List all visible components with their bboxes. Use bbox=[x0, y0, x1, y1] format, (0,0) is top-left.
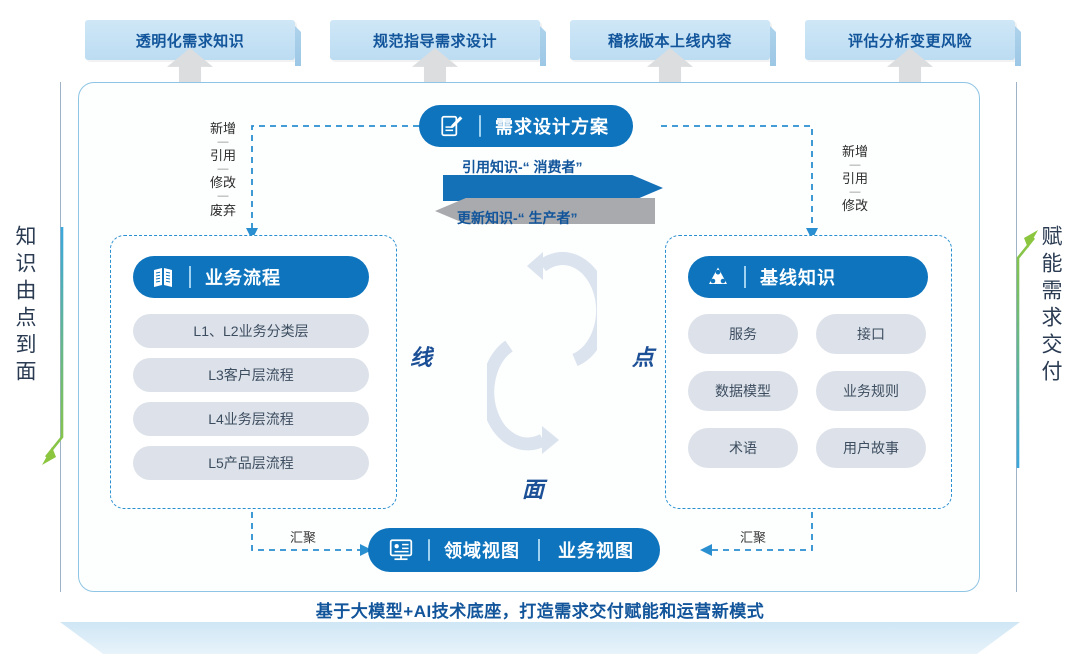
bottom-pill-divider-1 bbox=[428, 539, 430, 561]
caption-suffix: +AI技术底座，打造需求交付赋能和运营新模式 bbox=[403, 602, 764, 621]
process-chip-1-label: L1、L2业务分类层 bbox=[193, 321, 308, 341]
right-action-2: 修改 bbox=[842, 198, 868, 213]
right-action-0: 新增 bbox=[842, 144, 868, 159]
header-pill-label: 需求设计方案 bbox=[495, 113, 609, 139]
stack-separator: — bbox=[200, 137, 246, 149]
cycle-label-line: 线 bbox=[410, 340, 432, 372]
converge-label-right: 汇聚 bbox=[740, 527, 766, 546]
knowledge-chip-3-label: 数据模型 bbox=[715, 381, 771, 401]
knowledge-chip-5[interactable]: 术语 bbox=[688, 428, 798, 468]
caption-prefix: 基于 bbox=[316, 602, 351, 621]
bottom-pill-views[interactable]: 领域视图 业务视图 bbox=[368, 528, 660, 572]
right-direction-arrow-icon bbox=[1012, 225, 1040, 470]
knowledge-chip-4[interactable]: 业务规则 bbox=[816, 371, 926, 411]
converge-label-left: 汇聚 bbox=[290, 527, 316, 546]
header-pill-requirement-design[interactable]: 需求设计方案 bbox=[419, 105, 633, 147]
cycle-arrow-icon bbox=[487, 248, 597, 458]
process-chip-4[interactable]: L5产品层流程 bbox=[133, 446, 369, 480]
diagram-canvas: 透明化需求知识 规范指导需求设计 稽核版本上线内容 评估分析变更风险 bbox=[0, 0, 1080, 664]
knowledge-chip-4-label: 业务规则 bbox=[843, 381, 899, 401]
network-node-icon bbox=[706, 265, 730, 289]
panel-business-process: 业务流程 L1、L2业务分类层 L3客户层流程 L4业务层流程 L5产品层流程 bbox=[110, 235, 397, 509]
panel-right-title: 基线知识 bbox=[760, 264, 836, 290]
producer-arrow-label: 更新知识-“ 生产者” bbox=[457, 208, 578, 228]
left-action-2: 修改 bbox=[210, 175, 236, 190]
knowledge-chip-1-label: 服务 bbox=[729, 324, 757, 344]
stack-separator: — bbox=[200, 164, 246, 176]
knowledge-chip-2[interactable]: 接口 bbox=[816, 314, 926, 354]
right-action-stack: 新增 — 引用 — 修改 bbox=[832, 145, 878, 213]
cycle-label-plane: 面 bbox=[522, 472, 544, 504]
stack-separator: — bbox=[832, 160, 878, 172]
left-action-3: 废弃 bbox=[210, 203, 236, 218]
outcome-box-1-label: 透明化需求知识 bbox=[136, 30, 245, 51]
stack-separator: — bbox=[200, 191, 246, 203]
stack-separator: — bbox=[832, 187, 878, 199]
bottom-pill-divider-2 bbox=[538, 539, 540, 561]
process-chip-4-label: L5产品层流程 bbox=[208, 453, 294, 473]
process-chip-2-label: L3客户层流程 bbox=[208, 365, 294, 385]
knowledge-chip-5-label: 术语 bbox=[729, 438, 757, 458]
process-chip-3-label: L4业务层流程 bbox=[208, 409, 294, 429]
outcome-box-4-label: 评估分析变更风险 bbox=[848, 30, 972, 51]
outcome-box-2-label: 规范指导需求设计 bbox=[373, 30, 497, 51]
panel-left-title: 业务流程 bbox=[205, 264, 281, 290]
presentation-board-icon bbox=[388, 537, 414, 563]
document-edit-icon bbox=[439, 113, 465, 139]
knowledge-chip-3[interactable]: 数据模型 bbox=[688, 371, 798, 411]
knowledge-chip-6-label: 用户故事 bbox=[843, 438, 899, 458]
panel-right-divider bbox=[744, 266, 746, 288]
left-side-caption: 知识由点到面 bbox=[14, 225, 35, 387]
outcome-box-3-label: 稽核版本上线内容 bbox=[608, 30, 732, 51]
left-direction-arrow-icon bbox=[40, 225, 68, 470]
left-action-0: 新增 bbox=[210, 121, 236, 136]
bottom-pill-label-business-view: 业务视图 bbox=[558, 537, 634, 563]
process-chip-3[interactable]: L4业务层流程 bbox=[133, 402, 369, 436]
panel-left-header[interactable]: 业务流程 bbox=[133, 256, 369, 298]
bottom-pill-label-domain-view: 领域视图 bbox=[444, 537, 520, 563]
knowledge-chip-2-label: 接口 bbox=[857, 324, 885, 344]
pill-divider bbox=[479, 115, 481, 137]
panel-right-header[interactable]: 基线知识 bbox=[688, 256, 928, 298]
knowledge-chip-6[interactable]: 用户故事 bbox=[816, 428, 926, 468]
cycle-label-point: 点 bbox=[632, 340, 654, 372]
right-side-caption: 赋能需求交付 bbox=[1040, 225, 1061, 387]
consumer-arrow-right bbox=[443, 175, 663, 201]
panel-baseline-knowledge: 基线知识 服务 接口 数据模型 业务规则 术语 用户故事 bbox=[665, 235, 952, 509]
bottom-trapezoid-banner bbox=[60, 622, 1020, 654]
left-action-1: 引用 bbox=[210, 148, 236, 163]
bottom-caption: 基于大模型+AI技术底座，打造需求交付赋能和运营新模式 bbox=[0, 597, 1080, 622]
consumer-arrow-label: 引用知识-“ 消费者” bbox=[462, 157, 583, 177]
process-chip-2[interactable]: L3客户层流程 bbox=[133, 358, 369, 392]
panel-left-divider bbox=[189, 266, 191, 288]
caption-bold: 大模型 bbox=[351, 602, 404, 621]
left-action-stack: 新增 — 引用 — 修改 — 废弃 bbox=[200, 122, 246, 217]
book-pages-icon bbox=[151, 265, 175, 289]
knowledge-chip-1[interactable]: 服务 bbox=[688, 314, 798, 354]
right-action-1: 引用 bbox=[842, 171, 868, 186]
process-chip-1[interactable]: L1、L2业务分类层 bbox=[133, 314, 369, 348]
